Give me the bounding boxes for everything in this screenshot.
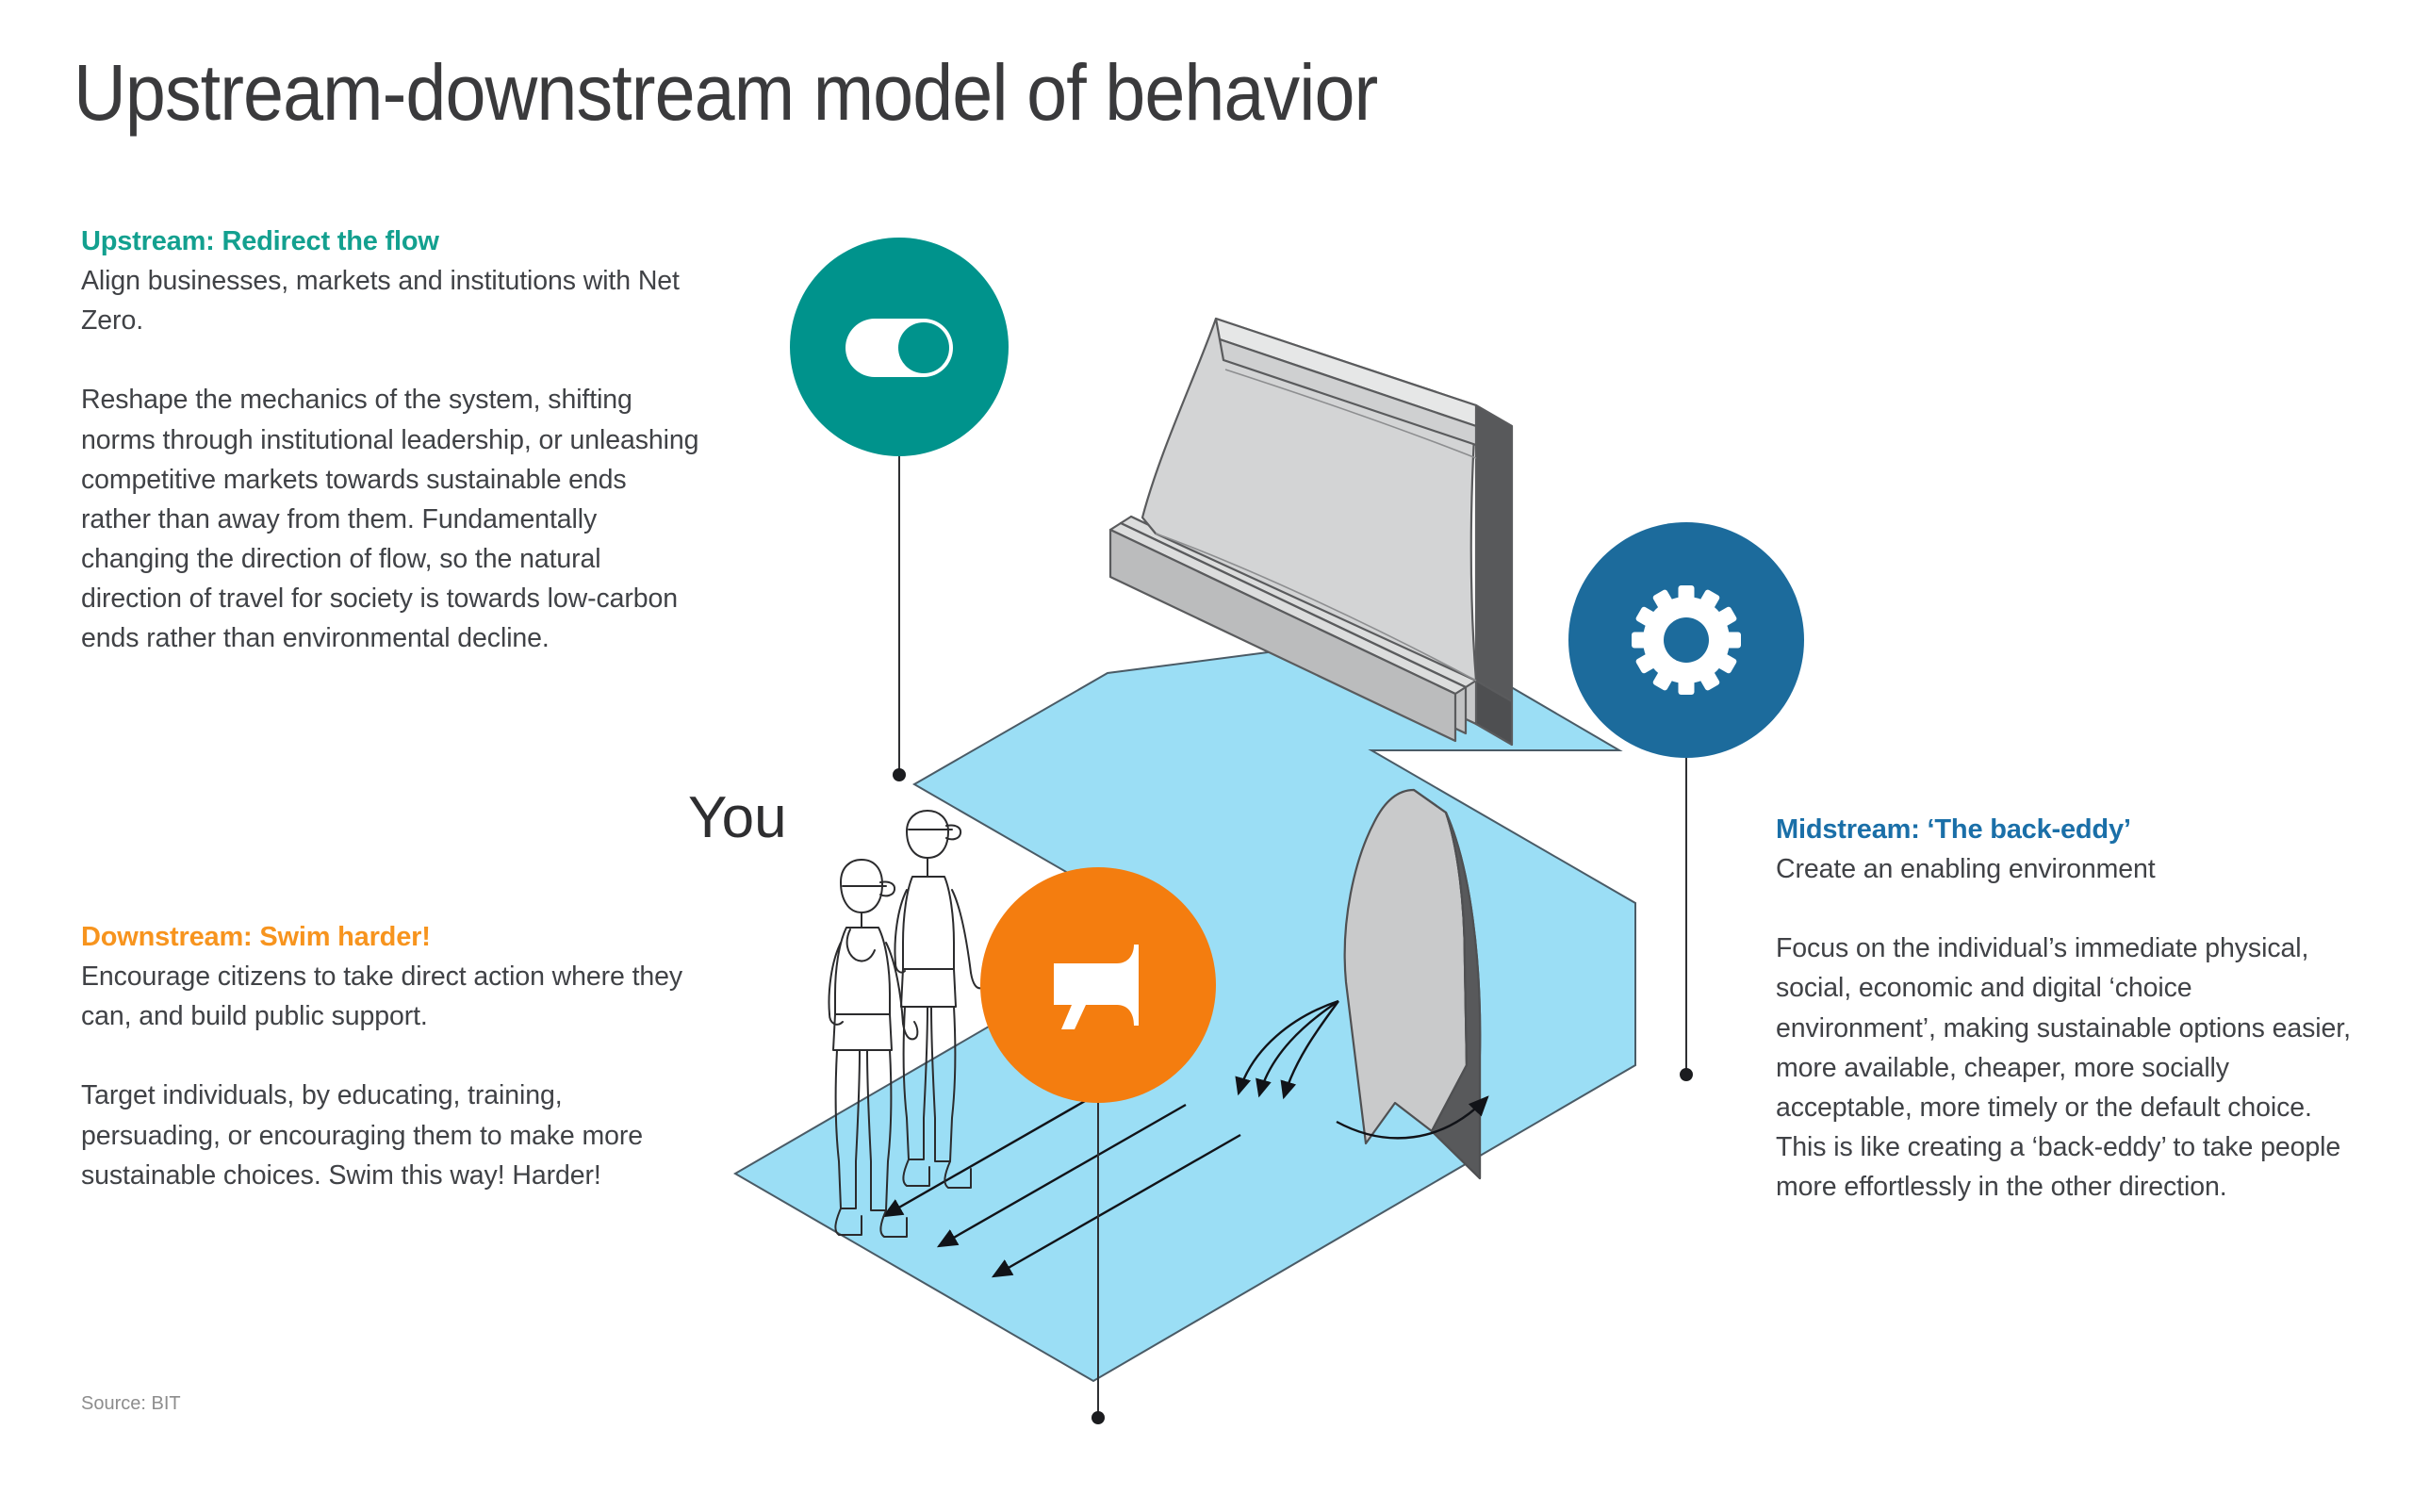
upstream-paragraph-1: Align businesses, markets and institutio… (81, 261, 703, 340)
badge-upstream[interactable] (790, 238, 1009, 456)
downstream-paragraph-2: Target individuals, by educating, traini… (81, 1076, 684, 1195)
connector-dot-upstream (893, 768, 906, 781)
midstream-heading: Midstream: ‘The back-eddy’ (1776, 813, 2351, 847)
downstream-paragraph-1: Encourage citizens to take direct action… (81, 957, 684, 1036)
connector-dot-downstream (1092, 1411, 1105, 1424)
midstream-textblock: Midstream: ‘The back-eddy’ Create an ena… (1776, 813, 2351, 1207)
you-label: You (688, 784, 787, 851)
upstream-textblock: Upstream: Redirect the flow Align busine… (81, 224, 703, 659)
toggle-switch-icon (829, 276, 970, 418)
connector-dot-midstream (1680, 1068, 1693, 1081)
gear-icon (1616, 569, 1757, 711)
upstream-heading: Upstream: Redirect the flow (81, 224, 703, 259)
source-note: Source: BIT (81, 1393, 181, 1415)
midstream-paragraph-1: Create an enabling environment (1776, 849, 2351, 889)
downstream-heading: Downstream: Swim harder! (81, 920, 684, 955)
megaphone-icon (1027, 914, 1169, 1056)
downstream-textblock: Downstream: Swim harder! Encourage citiz… (81, 920, 684, 1195)
upstream-paragraph-2: Reshape the mechanics of the system, shi… (81, 380, 703, 658)
midstream-paragraph-2: Focus on the individual’s immediate phys… (1776, 929, 2351, 1207)
infographic-canvas: Upstream-downstream model of behavior (0, 0, 2413, 1512)
badge-midstream[interactable] (1568, 522, 1804, 758)
badge-downstream[interactable] (980, 867, 1216, 1103)
